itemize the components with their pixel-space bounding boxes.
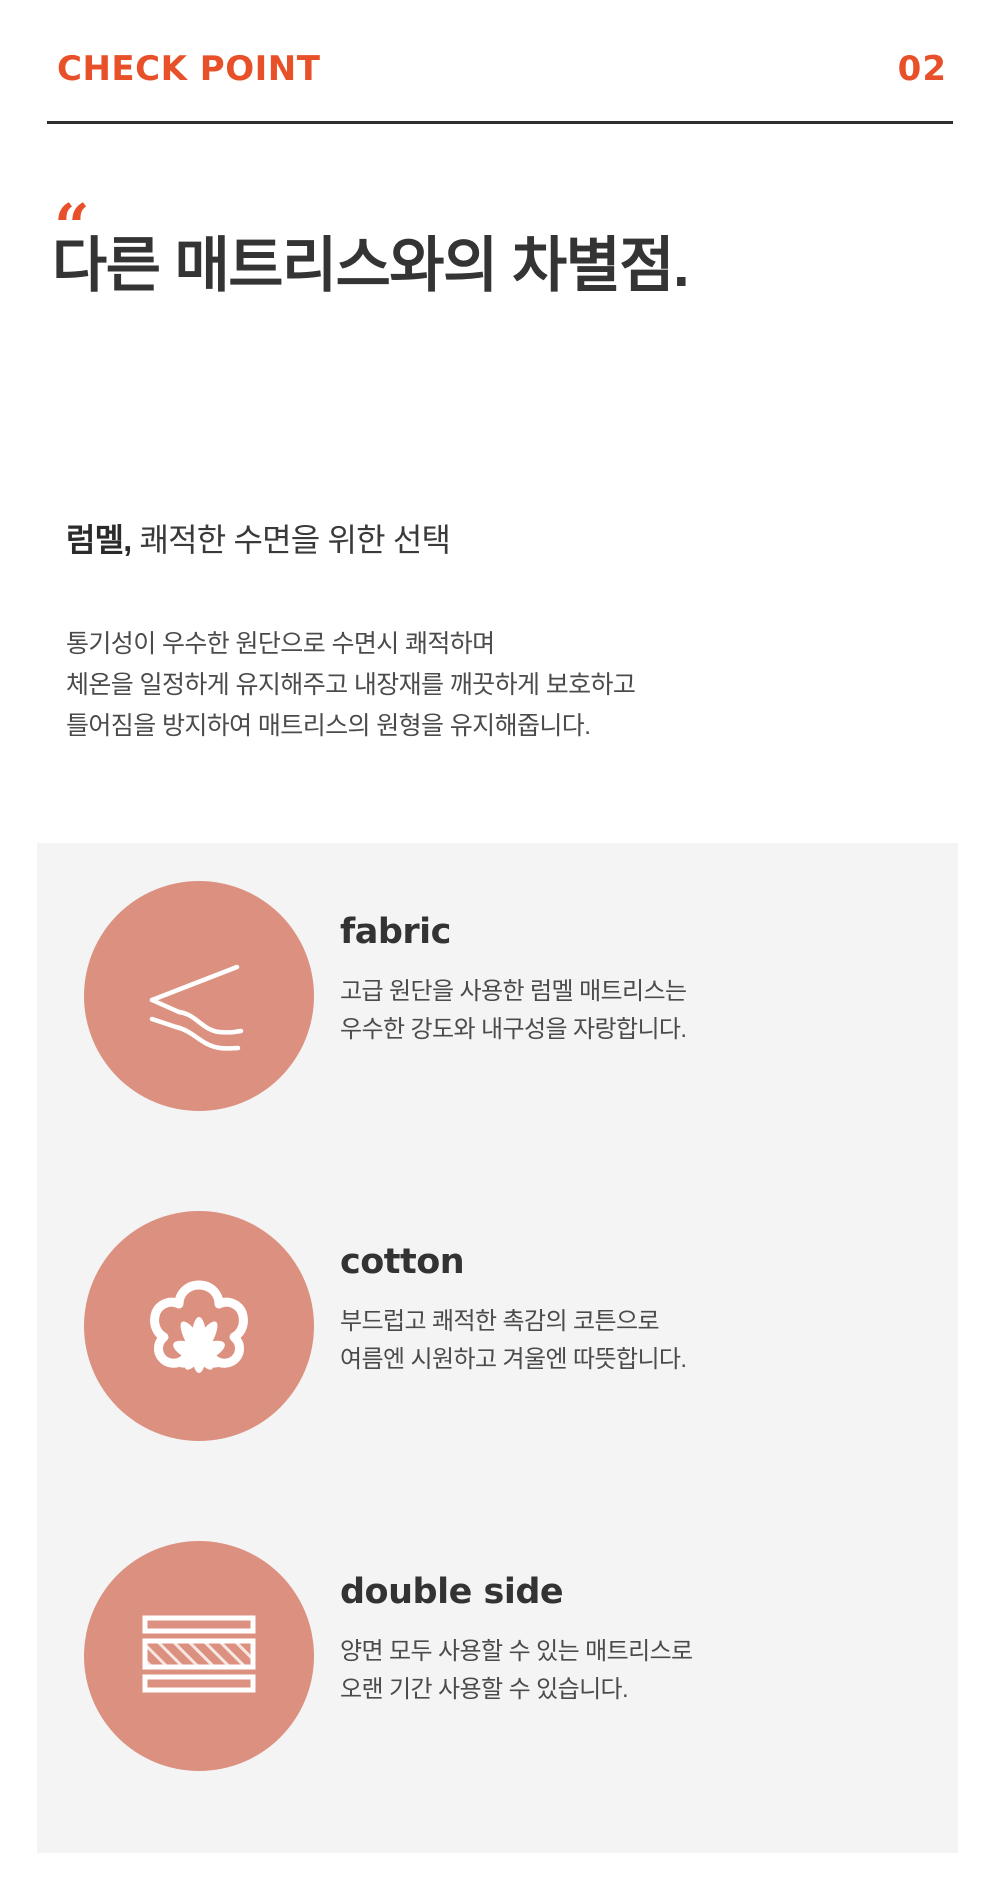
feature-icon-circle bbox=[84, 881, 314, 1111]
feature-title: fabric bbox=[340, 909, 930, 955]
feature-text-block: fabric 고급 원단을 사용한 럼멜 매트리스는 우수한 강도와 내구성을 … bbox=[340, 909, 930, 1049]
feature-title: cotton bbox=[340, 1239, 930, 1285]
feature-icon-circle bbox=[84, 1211, 314, 1441]
double-side-layers-icon bbox=[124, 1579, 274, 1734]
lead-body-line-2: 체온을 일정하게 유지해주고 내장재를 깨끗하게 보호하고 bbox=[66, 665, 946, 706]
feature-desc-line-1: 양면 모두 사용할 수 있는 매트리스로 bbox=[340, 1633, 930, 1671]
feature-desc-line-2: 오랜 기간 사용할 수 있습니다. bbox=[340, 1671, 930, 1709]
page-number-badge: 02 bbox=[898, 46, 947, 92]
feature-description: 고급 원단을 사용한 럼멜 매트리스는 우수한 강도와 내구성을 자랑합니다. bbox=[340, 973, 930, 1049]
feature-title: double side bbox=[340, 1569, 930, 1615]
hero-title: 다른 매트리스와의 차별점. bbox=[52, 228, 932, 304]
lead-body-line-1: 통기성이 우수한 원단으로 수면시 쾌적하며 bbox=[66, 624, 946, 665]
feature-panel: fabric 고급 원단을 사용한 럼멜 매트리스는 우수한 강도와 내구성을 … bbox=[37, 843, 958, 1853]
feature-item-cotton: cotton 부드럽고 쾌적한 촉감의 코튼으로 여름엔 시원하고 겨울엔 따뜻… bbox=[37, 1211, 958, 1501]
feature-text-block: cotton 부드럽고 쾌적한 촉감의 코튼으로 여름엔 시원하고 겨울엔 따뜻… bbox=[340, 1239, 930, 1379]
feature-description: 양면 모두 사용할 수 있는 매트리스로 오랜 기간 사용할 수 있습니다. bbox=[340, 1633, 930, 1709]
feature-desc-line-1: 고급 원단을 사용한 럼멜 매트리스는 bbox=[340, 973, 930, 1011]
header-divider bbox=[47, 121, 953, 124]
lead-body-line-3: 틀어짐을 방지하여 매트리스의 원형을 유지해줍니다. bbox=[66, 706, 946, 747]
check-point-page: CHECK POINT 02 “ 다른 매트리스와의 차별점. 럼멜, 쾌적한 … bbox=[0, 0, 1000, 1885]
feature-desc-line-2: 우수한 강도와 내구성을 자랑합니다. bbox=[340, 1011, 930, 1049]
feature-desc-line-1: 부드럽고 쾌적한 촉감의 코튼으로 bbox=[340, 1303, 930, 1341]
feature-desc-line-2: 여름엔 시원하고 겨울엔 따뜻합니다. bbox=[340, 1341, 930, 1379]
feature-item-fabric: fabric 고급 원단을 사용한 럼멜 매트리스는 우수한 강도와 내구성을 … bbox=[37, 881, 958, 1171]
page-header: CHECK POINT 02 bbox=[47, 46, 953, 124]
page-title: CHECK POINT bbox=[57, 46, 320, 92]
feature-item-double-side: double side 양면 모두 사용할 수 있는 매트리스로 오랜 기간 사… bbox=[37, 1541, 958, 1831]
feature-text-block: double side 양면 모두 사용할 수 있는 매트리스로 오랜 기간 사… bbox=[340, 1569, 930, 1709]
feature-description: 부드럽고 쾌적한 촉감의 코튼으로 여름엔 시원하고 겨울엔 따뜻합니다. bbox=[340, 1303, 930, 1379]
lead-heading: 럼멜, 쾌적한 수면을 위한 선택 bbox=[66, 518, 926, 562]
lead-body: 통기성이 우수한 원단으로 수면시 쾌적하며 체온을 일정하게 유지해주고 내장… bbox=[66, 624, 946, 747]
lead-heading-brand: 럼멜, bbox=[66, 522, 131, 558]
cotton-boll-icon bbox=[124, 1249, 274, 1404]
fabric-lines-icon bbox=[124, 919, 274, 1074]
feature-icon-circle bbox=[84, 1541, 314, 1771]
lead-heading-rest: 쾌적한 수면을 위한 선택 bbox=[131, 522, 450, 558]
